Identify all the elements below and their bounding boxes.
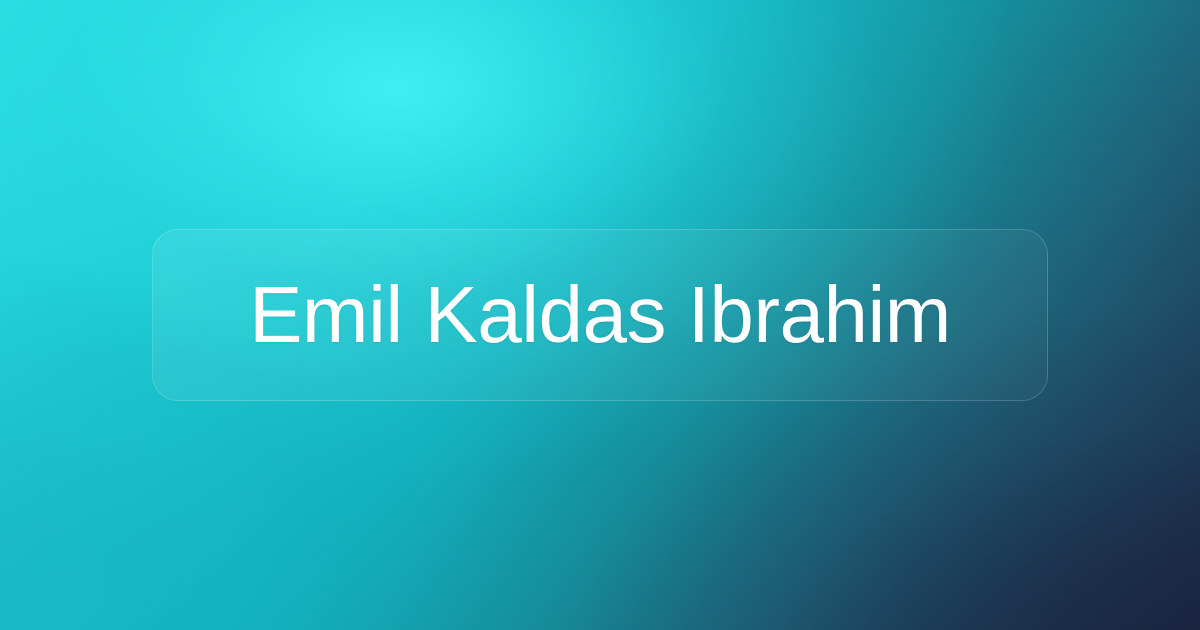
name-card: Emil Kaldas Ibrahim [152,229,1048,401]
preview-canvas: Emil Kaldas Ibrahim [0,0,1200,630]
card-container: Emil Kaldas Ibrahim [0,0,1200,630]
page-title: Emil Kaldas Ibrahim [249,275,951,355]
